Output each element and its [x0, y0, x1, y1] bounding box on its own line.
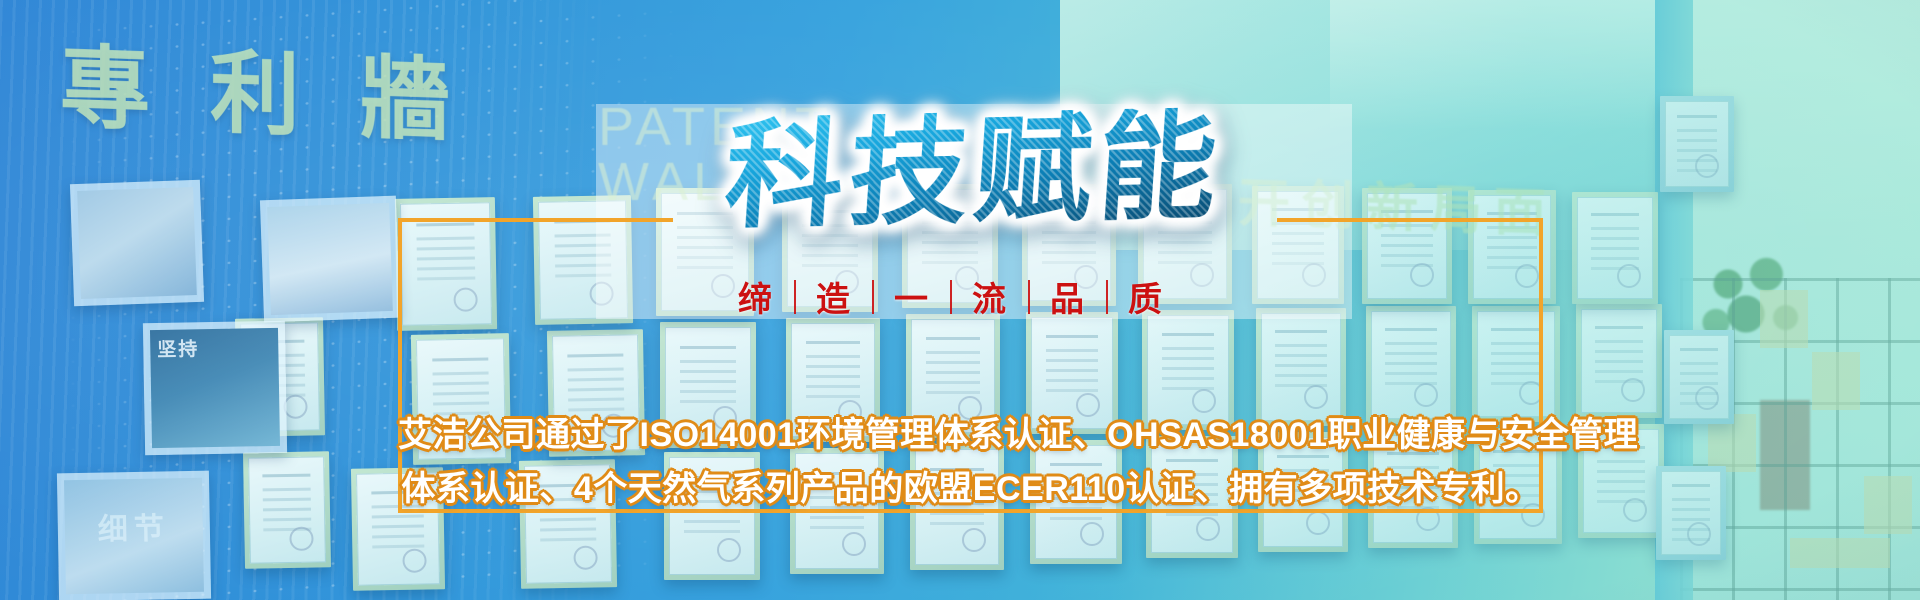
frame-border-top-left: [398, 218, 673, 222]
subtitle-separator: [950, 280, 952, 314]
subtitle-char: 流: [952, 272, 1028, 321]
subtitle-char: 缔: [718, 272, 794, 321]
body-paragraph: 艾洁公司通过了ISO14001环境管理体系认证、OHSAS18001职业健康与安…: [398, 408, 1543, 516]
subtitle-slogan: 缔 造 一 流 品 质: [718, 272, 1184, 321]
body-line: 体系认证、4个天然气系列产品的欧盟ECER110认证、拥有多项技术专利。: [398, 462, 1543, 516]
body-line: 艾洁公司通过了ISO14001环境管理体系认证、OHSAS18001职业健康与安…: [398, 408, 1543, 462]
subtitle-separator: [1106, 280, 1108, 314]
subtitle-separator: [872, 280, 874, 314]
subtitle-char: 品: [1030, 272, 1106, 321]
subtitle-separator: [794, 280, 796, 314]
patent-wall-banner: 坚持 细节 專利牆 开创新局面 PATENT WALL 科技赋能 缔 造 一 流…: [0, 0, 1920, 600]
subtitle-separator: [1028, 280, 1030, 314]
main-title: 科技赋能: [722, 107, 1227, 235]
frame-border-top-right: [1277, 218, 1543, 222]
subtitle-char: 造: [796, 272, 872, 321]
subtitle-char: 一: [874, 272, 950, 321]
subtitle-char: 质: [1108, 272, 1184, 321]
